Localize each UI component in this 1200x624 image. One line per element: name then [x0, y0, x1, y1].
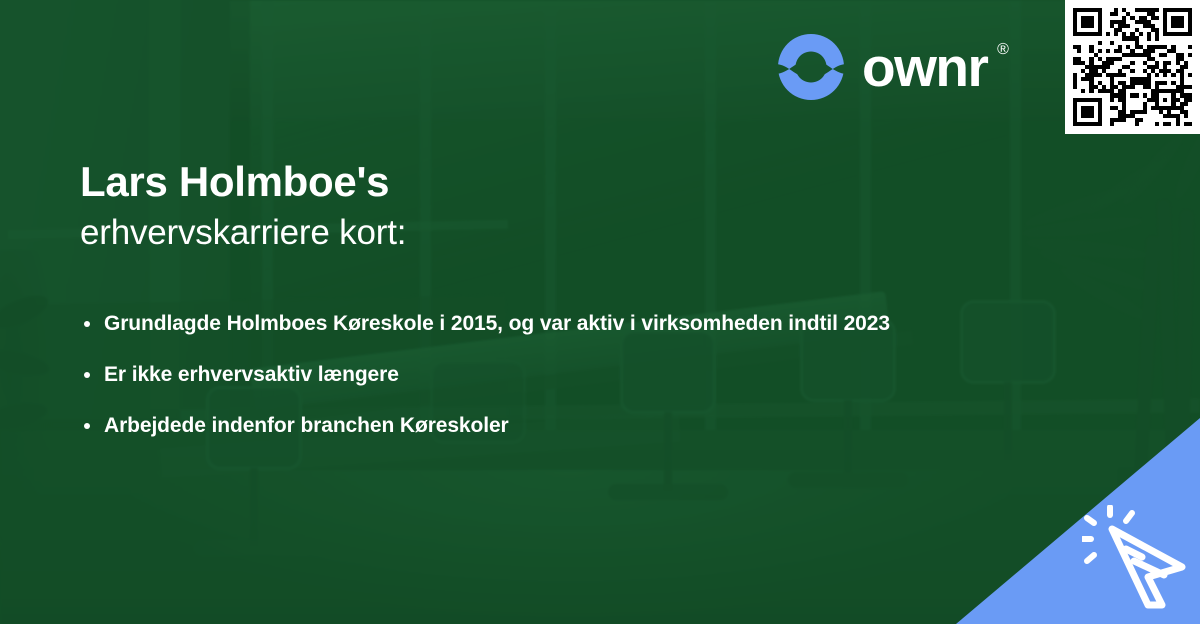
qr-code-panel[interactable] — [1065, 0, 1200, 134]
wordmark-text: ownr — [862, 36, 987, 98]
title-line-1: Lars Holmboe's — [80, 158, 406, 206]
list-item: Arbejdede indenfor branchen Køreskoler — [82, 410, 982, 441]
list-item: Er ikke erhvervsaktiv længere — [82, 359, 982, 390]
ownr-circle-swoosh-icon — [778, 34, 844, 100]
qr-code — [1073, 8, 1192, 126]
list-item-text: Arbejdede indenfor branchen Køreskoler — [104, 414, 509, 437]
page-title: Lars Holmboe's erhvervskarriere kort: — [80, 158, 406, 254]
ownr-wordmark: ownr ® — [862, 40, 987, 95]
click-cursor-icon — [1082, 505, 1194, 618]
bullet-dot-icon — [84, 372, 90, 378]
registered-trademark-icon: ® — [997, 42, 1007, 58]
bullet-dot-icon — [84, 423, 90, 429]
list-item: Grundlagde Holmboes Køreskole i 2015, og… — [82, 308, 982, 339]
ownr-logo[interactable]: ownr ® — [778, 34, 987, 100]
career-card: ownr ® Lars Holmboe's erhvervskarriere k… — [0, 0, 1200, 624]
career-facts-list: Grundlagde Holmboes Køreskole i 2015, og… — [82, 308, 982, 441]
title-line-2: erhvervskarriere kort: — [80, 212, 406, 254]
list-item-text: Er ikke erhvervsaktiv længere — [104, 363, 399, 386]
list-item-text: Grundlagde Holmboes Køreskole i 2015, og… — [104, 312, 890, 335]
bullet-dot-icon — [84, 321, 90, 327]
